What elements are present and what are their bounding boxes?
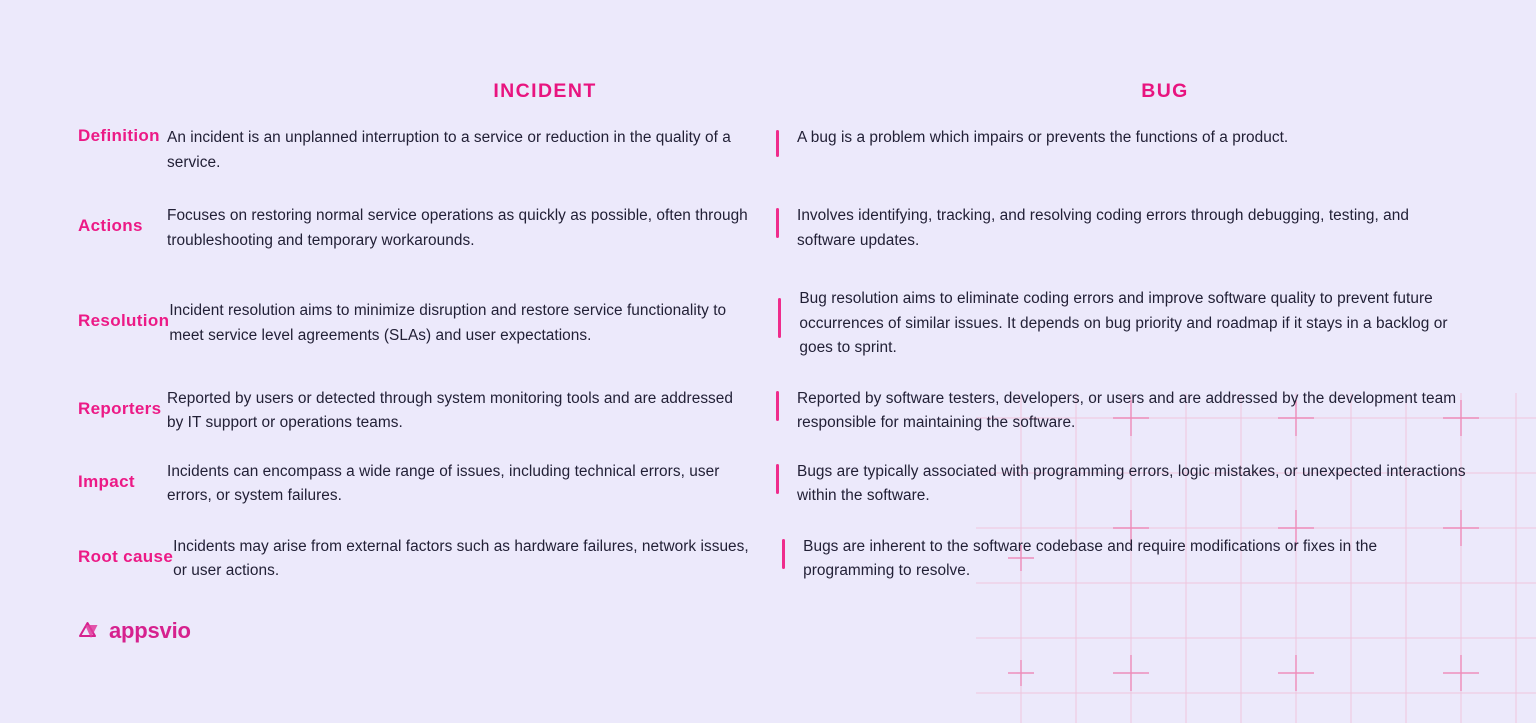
column-heading-bug: BUG [870, 80, 1460, 103]
table-row: Resolution Incident resolution aims to m… [0, 273, 1536, 375]
column-headings: INCIDENT BUG [0, 80, 1536, 112]
cell-bug-reporters: Reported by software testers, developers… [772, 375, 1536, 436]
cell-incident-actions: Focuses on restoring normal service oper… [167, 194, 772, 253]
row-divider-bar [782, 539, 785, 569]
cell-bug-actions-text: Involves identifying, tracking, and reso… [797, 207, 1409, 249]
table-row: Actions Focuses on restoring normal serv… [0, 194, 1536, 273]
table-row: Definition An incident is an unplanned i… [0, 126, 1536, 194]
cell-incident-impact: Incidents can encompass a wide range of … [167, 452, 772, 509]
row-label-reporters: Reporters [0, 375, 167, 419]
row-divider-bar [778, 298, 781, 338]
row-label-root-cause: Root cause [0, 525, 173, 567]
cell-incident-resolution: Incident resolution aims to minimize dis… [169, 273, 774, 348]
row-label-definition: Definition [0, 126, 167, 146]
cell-bug-resolution-text: Bug resolution aims to eliminate coding … [799, 290, 1447, 356]
cell-bug-impact: Bugs are typically associated with progr… [772, 452, 1536, 509]
cell-incident-reporters: Reported by users or detected through sy… [167, 375, 772, 436]
appsvio-logo-mark-icon [78, 620, 102, 642]
cell-bug-resolution: Bug resolution aims to eliminate coding … [774, 273, 1536, 361]
row-divider-bar [776, 208, 779, 238]
cell-bug-definition-text: A bug is a problem which impairs or prev… [797, 129, 1288, 146]
row-label-impact: Impact [0, 452, 167, 492]
column-heading-incident: INCIDENT [245, 80, 845, 103]
row-label-actions: Actions [0, 194, 167, 236]
cell-bug-definition: A bug is a problem which impairs or prev… [772, 126, 1536, 151]
cell-bug-root-cause-text: Bugs are inherent to the software codeba… [803, 538, 1377, 580]
table-row: Root cause Incidents may arise from exte… [0, 525, 1536, 593]
cell-bug-root-cause: Bugs are inherent to the software codeba… [778, 525, 1536, 584]
cell-bug-impact-text: Bugs are typically associated with progr… [797, 463, 1466, 505]
comparison-table: INCIDENT BUG Definition An incident is a… [0, 0, 1536, 723]
table-row: Impact Incidents can encompass a wide ra… [0, 452, 1536, 525]
appsvio-logo-text: appsvio [109, 618, 191, 644]
cell-incident-definition: An incident is an unplanned interruption… [167, 126, 772, 175]
comparison-rows: Definition An incident is an unplanned i… [0, 126, 1536, 593]
table-row: Reporters Reported by users or detected … [0, 375, 1536, 452]
row-divider-bar [776, 464, 779, 494]
row-divider-bar [776, 391, 779, 421]
cell-incident-root-cause: Incidents may arise from external factor… [173, 525, 778, 584]
cell-bug-actions: Involves identifying, tracking, and reso… [772, 194, 1536, 253]
row-label-resolution: Resolution [0, 273, 169, 331]
row-divider-bar [776, 130, 779, 157]
cell-bug-reporters-text: Reported by software testers, developers… [797, 390, 1456, 432]
appsvio-logo: appsvio [78, 618, 191, 644]
